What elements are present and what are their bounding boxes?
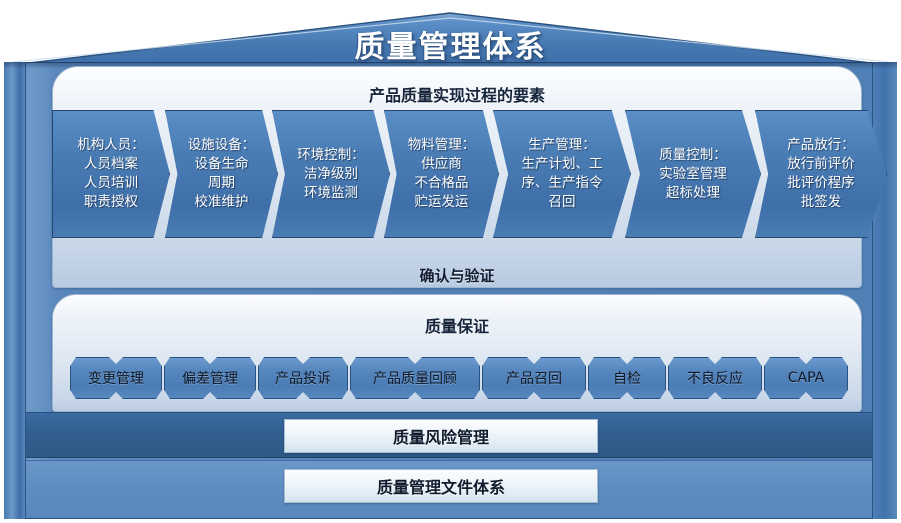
step-4-line-1: 物料管理： xyxy=(404,136,480,155)
step-6-line-3: 超标处理 xyxy=(655,184,731,203)
chip-adverse-reaction[interactable]: 不良反应 xyxy=(668,357,762,399)
step-7-line-4: 批签发 xyxy=(783,193,859,212)
process-step-4[interactable]: 物料管理： 供应商 不合格品 贮运发运 xyxy=(384,110,499,238)
step-1-line-4: 职责授权 xyxy=(73,193,149,212)
process-elements-heading: 产品质量实现过程的要素 xyxy=(52,82,862,106)
house-left-pillar xyxy=(4,62,26,519)
quality-risk-management-bar[interactable]: 质量风险管理 xyxy=(284,419,598,453)
process-step-1[interactable]: 机构人员： 人员档案 人员培训 职责授权 xyxy=(52,110,170,238)
process-step-3[interactable]: 环境控制： 洁净级别 环境监测 xyxy=(272,110,390,238)
step-2-line-2: 设备生命 xyxy=(184,155,260,174)
step-5-line-2: 生产计划、工 xyxy=(518,155,607,174)
house-right-pillar xyxy=(872,62,897,519)
chip-deviation-management[interactable]: 偏差管理 xyxy=(164,357,256,399)
step-5-line-1: 生产管理： xyxy=(518,136,607,155)
step-7-line-1: 产品放行： xyxy=(783,136,859,155)
step-4-line-3: 不合格品 xyxy=(404,174,480,193)
chip-capa[interactable]: CAPA xyxy=(764,357,848,399)
step-5-line-3: 序、生产指令 xyxy=(518,174,607,193)
house-roof xyxy=(0,10,901,68)
process-step-row: 机构人员： 人员档案 人员培训 职责授权 设施设备： 设备生命 周期 校准维护 … xyxy=(52,110,864,242)
quality-management-system-diagram: 质量管理体系 产品质量实现过程的要素 机构人员： 人员档案 人员培训 职责授权 … xyxy=(0,0,901,523)
step-1-line-3: 人员培训 xyxy=(73,174,149,193)
chip-change-management[interactable]: 变更管理 xyxy=(70,357,162,399)
step-4-line-2: 供应商 xyxy=(404,155,480,174)
step-4-line-4: 贮运发运 xyxy=(404,193,480,212)
step-2-line-3: 周期 xyxy=(184,174,260,193)
validation-label: 确认与验证 xyxy=(52,265,862,286)
step-6-line-2: 实验室管理 xyxy=(655,165,731,184)
quality-assurance-heading: 质量保证 xyxy=(52,313,862,337)
process-step-2[interactable]: 设施设备： 设备生命 周期 校准维护 xyxy=(165,110,278,238)
step-7-line-2: 放行前评价 xyxy=(783,155,859,174)
chip-product-recall[interactable]: 产品召回 xyxy=(482,357,586,399)
chip-product-quality-review[interactable]: 产品质量回顾 xyxy=(350,357,480,399)
step-1-line-2: 人员档案 xyxy=(73,155,149,174)
process-step-7[interactable]: 产品放行： 放行前评价 批评价程序 批签发 xyxy=(755,110,887,238)
process-step-6[interactable]: 质量控制： 实验室管理 超标处理 xyxy=(625,110,761,238)
step-6-line-1: 质量控制： xyxy=(655,146,731,165)
step-2-line-1: 设施设备： xyxy=(184,136,260,155)
step-2-line-4: 校准维护 xyxy=(184,193,260,212)
process-step-5[interactable]: 生产管理： 生产计划、工 序、生产指令 召回 xyxy=(493,110,631,238)
chip-self-inspection[interactable]: 自检 xyxy=(588,357,666,399)
step-3-line-2: 洁净级别 xyxy=(293,165,369,184)
step-7-line-3: 批评价程序 xyxy=(783,174,859,193)
chip-product-complaint[interactable]: 产品投诉 xyxy=(258,357,348,399)
step-1-line-1: 机构人员： xyxy=(73,136,149,155)
quality-document-system-bar[interactable]: 质量管理文件体系 xyxy=(284,469,598,503)
step-3-line-1: 环境控制： xyxy=(293,146,369,165)
quality-assurance-chip-row: 变更管理 偏差管理 产品投诉 产品质量回顾 产品召回 自检 不良反应 CAPA xyxy=(70,357,850,399)
step-5-line-4: 召回 xyxy=(518,193,607,212)
step-3-line-3: 环境监测 xyxy=(293,184,369,203)
